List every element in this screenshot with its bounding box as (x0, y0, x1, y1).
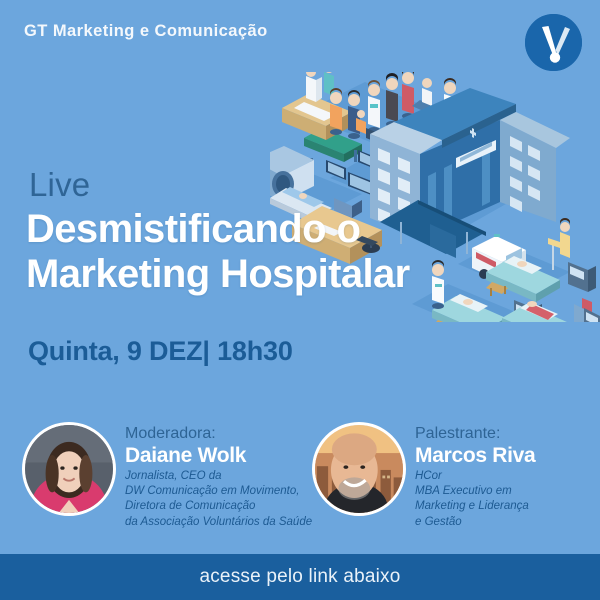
title-line-2: Marketing Hospitalar (26, 252, 410, 297)
v-mark-logo-icon (525, 14, 582, 71)
bio-line: DW Comunicação em Movimento, (125, 484, 312, 499)
title-line-1: Desmistificando o (26, 207, 410, 252)
speaker-presenter: Palestrante: Marcos Riva HCor MBA Execut… (312, 418, 535, 538)
footer-cta-bar: acesse pelo link abaixo (0, 554, 600, 600)
speaker-moderator-text: Moderadora: Daiane Wolk Jornalista, CEO … (125, 418, 312, 530)
bio-line: Diretora de Comunicação (125, 499, 312, 514)
bio-line: Jornalista, CEO da (125, 469, 312, 484)
speaker-role: Palestrante: (415, 426, 535, 443)
bio-line: da Associação Voluntários da Saúde (125, 515, 312, 530)
speaker-name: Marcos Riva (415, 444, 535, 467)
eyebrow-live: Live (29, 168, 410, 201)
footer-cta-text: acesse pelo link abaixo (199, 566, 400, 588)
speaker-role: Moderadora: (125, 426, 312, 443)
brand-bar: GT Marketing e Comunicação (24, 22, 268, 41)
speaker-presenter-text: Palestrante: Marcos Riva HCor MBA Execut… (415, 418, 535, 530)
avatar-photo-daiane-wolk (22, 422, 116, 516)
speaker-moderator: Moderadora: Daiane Wolk Jornalista, CEO … (22, 418, 312, 538)
page-title: Desmistificando o Marketing Hospitalar (26, 207, 410, 297)
bio-line: e Gestão (415, 515, 535, 530)
avatar-photo-marcos-riva (312, 422, 406, 516)
bio-line: Marketing e Liderança (415, 499, 535, 514)
speaker-bio: HCor MBA Executivo em Marketing e Lidera… (415, 469, 535, 530)
bio-line: HCor (415, 469, 535, 484)
headline-block: Live Desmistificando o Marketing Hospita… (26, 168, 410, 297)
speaker-name: Daiane Wolk (125, 444, 312, 467)
event-datetime: Quinta, 9 DEZ| 18h30 (28, 336, 293, 367)
event-poster: GT Marketing e Comunicação Live Desmisti… (0, 0, 600, 600)
speaker-bio: Jornalista, CEO da DW Comunicação em Mov… (125, 469, 312, 530)
bio-line: MBA Executivo em (415, 484, 535, 499)
brand-title: GT Marketing e Comunicação (24, 22, 268, 41)
speakers-row: Moderadora: Daiane Wolk Jornalista, CEO … (0, 418, 600, 538)
